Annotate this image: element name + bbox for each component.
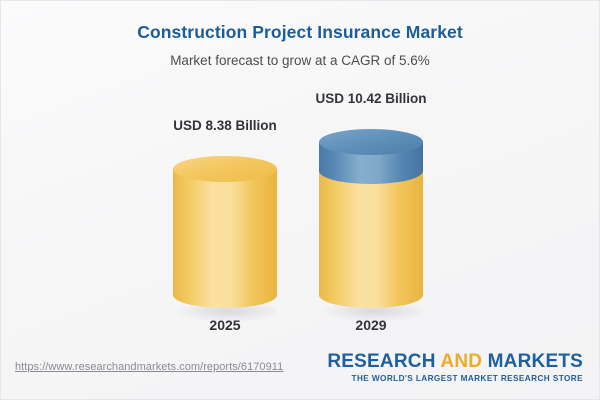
research-and-markets-logo[interactable]: RESEARCH AND MARKETS THE WORLD'S LARGEST… [327,352,583,383]
bar-value-label: USD 8.38 Billion [173,118,277,133]
chart-plot-area: USD 8.38 Billion [1,1,600,349]
footer: https://www.researchandmarkets.com/repor… [1,347,599,399]
report-url-link[interactable]: https://www.researchandmarkets.com/repor… [15,361,283,373]
logo-word-research: RESEARCH [327,351,435,372]
bar-value-label: USD 10.42 Billion [315,91,426,106]
logo-wordmark: RESEARCH AND MARKETS [327,352,583,372]
bar-category-label: 2029 [355,317,386,333]
bar-group-2029: USD 10.42 Billion [319,1,423,349]
bar-category-label: 2025 [209,317,240,333]
logo-word-and: AND [440,351,482,372]
logo-tagline: THE WORLD'S LARGEST MARKET RESEARCH STOR… [327,374,583,383]
market-infographic: Construction Project Insurance Market Ma… [0,0,600,400]
bar-group-2025: USD 8.38 Billion [173,1,277,349]
logo-word-markets: MARKETS [488,351,583,372]
